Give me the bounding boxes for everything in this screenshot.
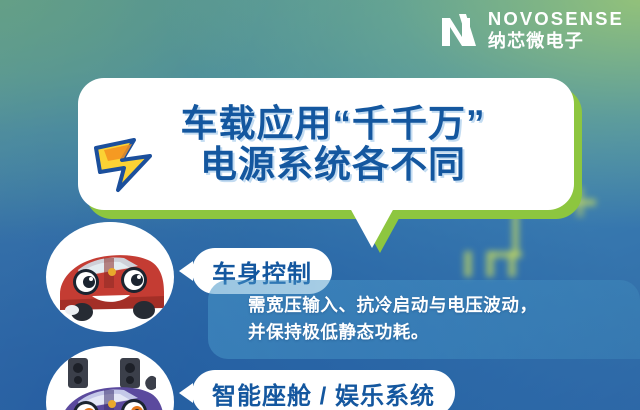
page-title-line2: 电源系统各不同: [181, 144, 486, 185]
section-label-bubble-2[interactable]: 智能座舱 / 娱乐系统: [192, 370, 455, 410]
page-title-line1: 车载应用“千千万”: [181, 103, 486, 144]
red-sports-car-icon: [46, 222, 174, 332]
description-line: 需宽压输入、抗冷启动与电压波动，: [248, 292, 622, 319]
title-text-block: 车载应用“千千万” 电源系统各不同: [167, 103, 486, 186]
brand-logo: NOVOSENSE 纳芯微电子: [439, 10, 624, 50]
section-description-panel-1: 需宽压输入、抗冷启动与电压波动， 并保持极低静态功耗。: [208, 280, 640, 359]
novosense-n-mark-icon: [439, 11, 479, 49]
title-card-group: 车载应用“千千万” 电源系统各不同: [78, 78, 574, 210]
brand-name-en: NOVOSENSE: [488, 10, 624, 29]
brand-name-cn: 纳芯微电子: [488, 32, 624, 50]
lightning-bolt-icon: [88, 134, 176, 196]
description-line: 并保持极低静态功耗。: [248, 319, 622, 346]
section-label-2: 智能座舱 / 娱乐系统: [212, 376, 435, 410]
poster-canvas: NOVOSENSE 纳芯微电子 车载应用“千千万” 电源系统各不同: [0, 0, 640, 410]
